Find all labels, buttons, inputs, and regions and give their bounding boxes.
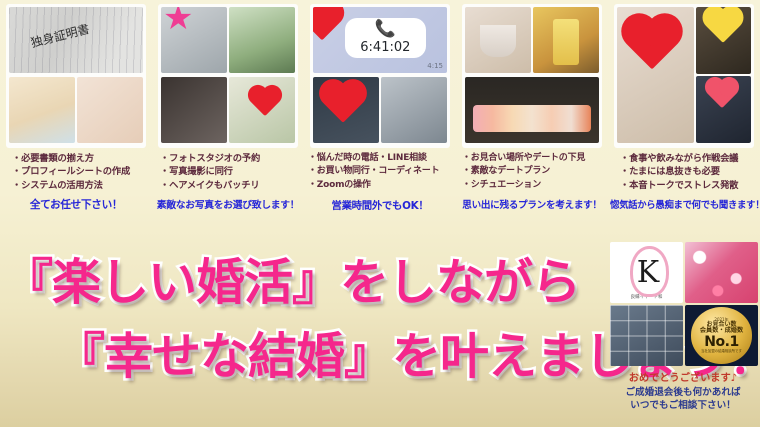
photo-collage-talk xyxy=(614,4,754,148)
call-card: 📞 6:41:02 xyxy=(345,18,425,59)
heart-icon xyxy=(251,87,279,115)
heart-icon xyxy=(708,80,736,108)
bullet-item: ・ヘアメイクもバッチリ xyxy=(154,179,302,192)
photo-writing-hand xyxy=(9,77,75,143)
heart-icon xyxy=(626,19,677,70)
certificate-caption: 独身証明書 xyxy=(29,20,91,51)
text-block-studio: ・フォトスタジオの予約 ・写真撮影に同行 ・ヘアメイクもバッチリ 素敵なお写真を… xyxy=(154,152,302,211)
text-block-date-plan: ・お見合い場所やデートの下見 ・素敵なデートプラン ・シチュエーション 思い出に… xyxy=(458,152,606,211)
photo-coffee-cup xyxy=(465,7,531,73)
photo-dressing xyxy=(161,77,227,143)
bullet-item: ・プロフィールシートの作成 xyxy=(2,165,150,178)
photo-stack-right xyxy=(696,7,751,143)
photo-members-grid xyxy=(610,305,683,366)
text-block-consultation: ・悩んだ時の電話・LINE相談 ・お買い物同行・コーディネート ・Zoomの操作… xyxy=(306,152,454,212)
text-block-documents: ・必要書類の揃え方 ・プロフィールシートの作成 ・システムの活用方法 全てお任せ… xyxy=(2,152,150,212)
service-column-documents: 独身証明書 ・必要書類の揃え方 ・プロフィールシートの作成 ・システムの活用方法… xyxy=(0,0,152,248)
bullet-item: ・本音トークでストレス発散 xyxy=(610,179,758,192)
glass-shape xyxy=(553,19,579,65)
main-headline: 『楽しい婚活』をしながら 『幸せな結婚』を叶えましょう！ xyxy=(0,250,612,410)
photo-collage-consultation: 📞 6:41:02 4:15 xyxy=(310,4,450,148)
photo-lemonade xyxy=(533,7,599,73)
star-icon: ★ xyxy=(163,7,193,35)
photo-posing-woman xyxy=(229,77,295,143)
service-column-consultation: 📞 6:41:02 4:15 ・悩んだ時の電話・LINE相談 ・お買い物同行・コ… xyxy=(304,0,456,248)
photo-woman-at-table xyxy=(617,7,694,143)
bullet-item: ・必要書類の揃え方 xyxy=(2,152,150,165)
bullet-item: ・食事や飲みながら作戦会議 xyxy=(610,152,758,165)
bullet-item: ・フォトスタジオの予約 xyxy=(154,152,302,165)
bullet-item: ・お見合い場所やデートの下見 xyxy=(458,152,606,165)
column-summary: 全てお任せ下さい！ xyxy=(2,197,150,212)
photo-man-from-behind xyxy=(381,77,447,143)
closing-line-1: おめでとうございます♪ xyxy=(606,372,760,386)
photo-collage-studio: ★ xyxy=(158,4,298,148)
photo-phone-call-screen: 📞 6:41:02 4:15 xyxy=(313,7,447,73)
bottom-right-collage: K 良縁イヤート和 2021年 お見合い数 会員数・成婚数 No.1 当社加盟の… xyxy=(608,240,760,368)
closing-line-3: いつでもご相談下さい！ xyxy=(606,399,760,413)
photo-person-beige xyxy=(696,7,751,74)
service-columns: 独身証明書 ・必要書類の揃え方 ・プロフィールシートの作成 ・システムの活用方法… xyxy=(0,0,760,248)
service-column-date-plan: ・お見合い場所やデートの下見 ・素敵なデートプラン ・シチュエーション 思い出に… xyxy=(456,0,608,248)
bullet-item: ・シチュエーション xyxy=(458,179,606,192)
sushi-row-shape xyxy=(473,105,591,133)
photo-wedding-hearts-grid xyxy=(685,242,758,303)
award-footer: 当社加盟の結婚相談所です xyxy=(701,350,742,354)
call-duration: 6:41:02 xyxy=(360,40,410,55)
brand-logo: K 良縁イヤート和 xyxy=(610,242,683,303)
coffee-cup-shape xyxy=(480,25,517,57)
photo-hair-makeup: ★ xyxy=(161,7,227,73)
service-column-talk: ・食事や飲みながら作戦会議 ・たまには息抜きも必要 ・本音トークでストレス発散 … xyxy=(608,0,760,248)
photo-outdoor-shoot xyxy=(229,7,295,73)
bullet-item: ・写真撮影に同行 xyxy=(154,165,302,178)
heart-icon xyxy=(313,7,340,40)
logo-letter: K xyxy=(637,255,656,290)
photo-man-in-suit xyxy=(313,77,379,143)
photo-smartphone xyxy=(77,77,143,143)
heart-icon xyxy=(323,83,363,123)
text-block-talk: ・食事や飲みながら作戦会議 ・たまには息抜きも必要 ・本音トークでストレス発散 … xyxy=(610,152,758,211)
closing-message: おめでとうございます♪ ご成婚退会後も何かあれば いつでもご相談下さい！ xyxy=(606,372,760,413)
award-medal-disc: 2021年 お見合い数 会員数・成婚数 No.1 当社加盟の結婚相談所です xyxy=(691,307,752,363)
photo-collage-documents: 独身証明書 xyxy=(6,4,146,148)
photo-singlehood-certificate: 独身証明書 xyxy=(9,7,143,73)
award-rank: No.1 xyxy=(704,335,738,350)
bullet-item: ・システムの活用方法 xyxy=(2,179,150,192)
column-summary: 惚気話から愚痴まで何でも聞きます！ xyxy=(610,197,758,211)
photo-sushi-platter xyxy=(465,77,599,143)
poster-canvas: 独身証明書 ・必要書類の揃え方 ・プロフィールシートの作成 ・システムの活用方法… xyxy=(0,0,760,427)
headline-line-1: 『楽しい婚活』をしながら xyxy=(4,258,580,307)
closing-line-2: ご成婚退会後も何かあれば xyxy=(606,386,760,400)
bullet-item: ・たまには息抜きも必要 xyxy=(610,165,758,178)
bullet-item: ・お買い物同行・コーディネート xyxy=(306,165,454,178)
photo-person-blue xyxy=(696,76,751,143)
column-summary: 思い出に残るプランを考えます！ xyxy=(458,197,606,211)
heart-icon-yellow xyxy=(706,9,740,43)
call-timestamp: 4:15 xyxy=(427,62,443,70)
bullet-item: ・Zoomの操作 xyxy=(306,179,454,192)
bullet-item: ・悩んだ時の電話・LINE相談 xyxy=(306,152,454,165)
bullet-item: ・素敵なデートプラン xyxy=(458,165,606,178)
phone-call-icon: 📞 xyxy=(375,21,396,38)
service-column-photo-studio: ★ ・フォトスタジオの予約 ・写真撮影に同行 ・ヘアメイクもバッチリ 素敵なお写… xyxy=(152,0,304,248)
column-summary: 素敵なお写真をお選び致します！ xyxy=(154,197,302,211)
column-summary: 営業時間外でもOK！ xyxy=(306,197,454,212)
photo-collage-food xyxy=(462,4,602,148)
award-badge: 2021年 お見合い数 会員数・成婚数 No.1 当社加盟の結婚相談所です xyxy=(685,305,758,366)
